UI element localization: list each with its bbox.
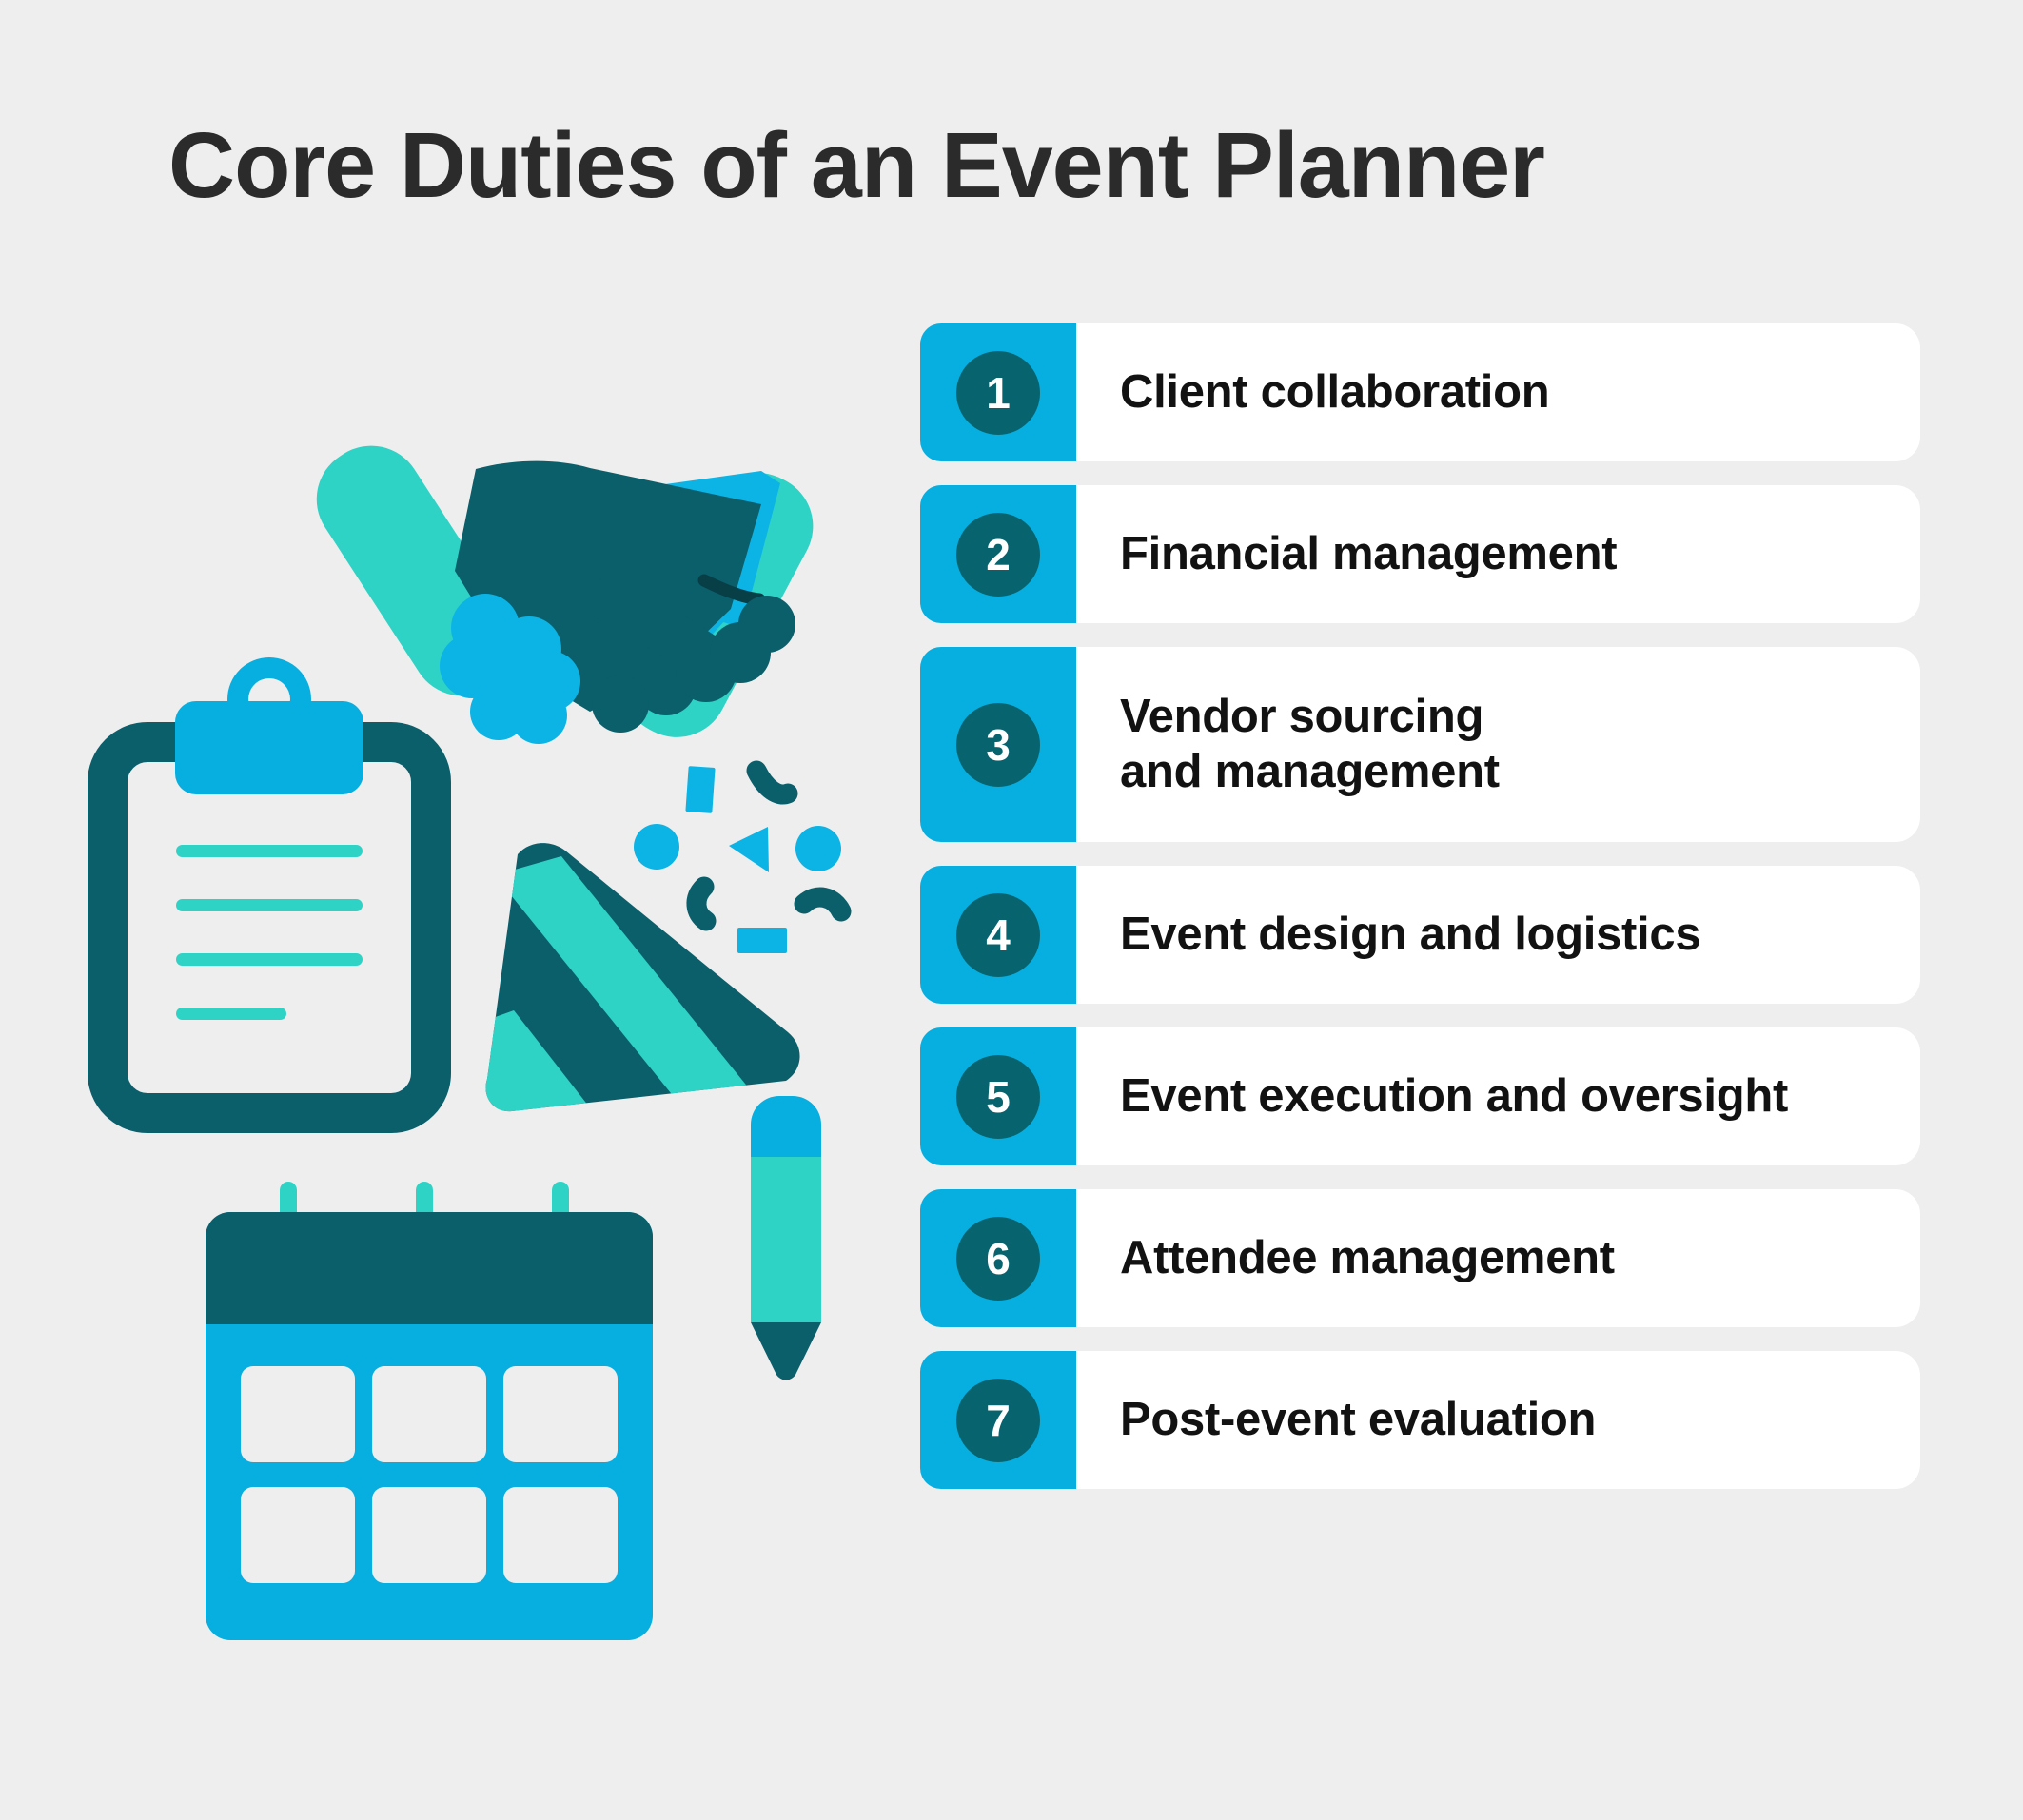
- duty-row[interactable]: 7 Post-event evaluation: [920, 1351, 1920, 1489]
- duty-number-tab: 2: [920, 485, 1076, 623]
- clipboard-icon: [108, 657, 431, 1113]
- duty-card[interactable]: Post-event evaluation: [1076, 1351, 1920, 1489]
- duty-number-badge: 5: [956, 1055, 1040, 1139]
- duty-number-badge: 7: [956, 1379, 1040, 1462]
- confetti-arc-right: [804, 897, 841, 911]
- confetti-rect-tall: [685, 766, 715, 813]
- calendar-icon: [206, 1182, 653, 1640]
- confetti-triangle: [729, 827, 769, 872]
- confetti-dot-right: [795, 826, 841, 871]
- confetti-rect-wide: [737, 928, 787, 953]
- duty-number-tab: 1: [920, 323, 1076, 461]
- duty-label: Post-event evaluation: [1120, 1393, 1596, 1448]
- duty-number-tab: 7: [920, 1351, 1076, 1489]
- duty-row[interactable]: 3 Vendor sourcing and management: [920, 647, 1920, 842]
- duty-label-line: Vendor sourcing: [1120, 690, 1500, 745]
- duty-label: Vendor sourcing and management: [1120, 690, 1500, 800]
- duty-number-badge: 1: [956, 351, 1040, 435]
- duty-row[interactable]: 1 Client collaboration: [920, 323, 1920, 461]
- duty-row[interactable]: 2 Financial management: [920, 485, 1920, 623]
- handshake-icon: [297, 426, 831, 755]
- duty-number-tab: 3: [920, 647, 1076, 842]
- confetti-arc-mid: [697, 887, 706, 921]
- confetti-arc-top: [756, 771, 788, 794]
- duty-label: Financial management: [1120, 527, 1617, 582]
- pencil-icon: [751, 1096, 821, 1380]
- duty-card[interactable]: Event execution and oversight: [1076, 1027, 1920, 1165]
- duty-number-badge: 6: [956, 1217, 1040, 1301]
- duty-card[interactable]: Event design and logistics: [1076, 866, 1920, 1004]
- duty-number-badge: 4: [956, 893, 1040, 977]
- infographic-root: Core Duties of an Event Planner: [0, 0, 2023, 1820]
- duty-label: Attendee management: [1120, 1231, 1615, 1286]
- duty-row[interactable]: 5 Event execution and oversight: [920, 1027, 1920, 1165]
- duty-number-badge: 2: [956, 513, 1040, 597]
- duty-label: Event execution and oversight: [1120, 1069, 1788, 1125]
- duty-number-tab: 4: [920, 866, 1076, 1004]
- duty-card[interactable]: Client collaboration: [1076, 323, 1920, 461]
- duty-label-line: and management: [1120, 745, 1500, 800]
- duty-label: Event design and logistics: [1120, 908, 1700, 963]
- duty-label: Client collaboration: [1120, 365, 1549, 421]
- duty-card[interactable]: Vendor sourcing and management: [1076, 647, 1920, 842]
- duty-card[interactable]: Financial management: [1076, 485, 1920, 623]
- duty-list: 1 Client collaboration 2 Financial manag…: [920, 323, 1920, 1513]
- duty-card[interactable]: Attendee management: [1076, 1189, 1920, 1327]
- duty-row[interactable]: 4 Event design and logistics: [920, 866, 1920, 1004]
- duty-row[interactable]: 6 Attendee management: [920, 1189, 1920, 1327]
- duty-number-tab: 5: [920, 1027, 1076, 1165]
- party-popper-icon: [457, 766, 856, 1142]
- duty-number-tab: 6: [920, 1189, 1076, 1327]
- confetti-dot-left: [634, 824, 679, 870]
- duty-number-badge: 3: [956, 703, 1040, 787]
